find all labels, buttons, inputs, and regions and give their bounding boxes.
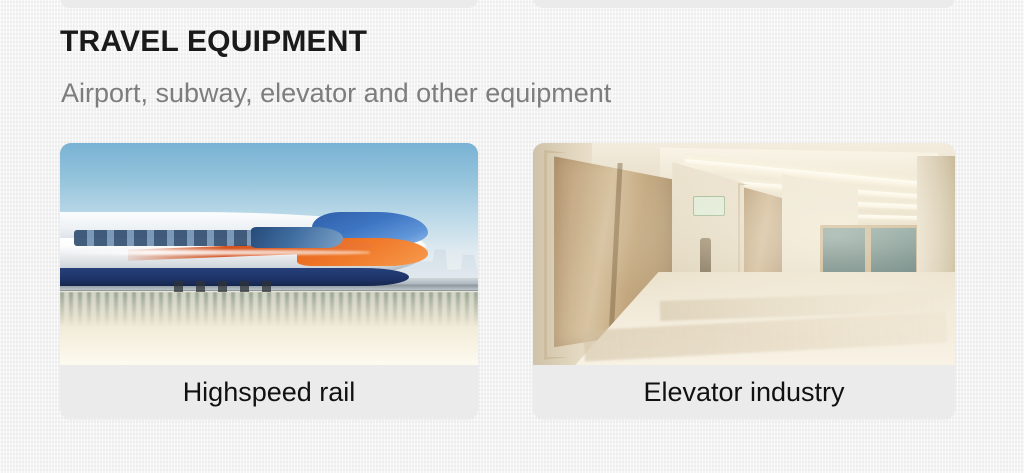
section-subtitle: Airport, subway, elevator and other equi… bbox=[61, 80, 611, 107]
category-card-grid: Highspeed rail bbox=[60, 143, 955, 419]
treeline-reflection bbox=[60, 292, 478, 328]
train-bogies bbox=[174, 281, 282, 292]
travel-equipment-section: TRAVEL EQUIPMENT Airport, subway, elevat… bbox=[0, 0, 1024, 473]
section-title: TRAVEL EQUIPMENT bbox=[60, 27, 367, 57]
exit-sign bbox=[693, 196, 725, 216]
category-card-elevator-industry[interactable]: Elevator industry bbox=[533, 143, 955, 419]
rail-scene bbox=[60, 143, 478, 365]
card-caption-highspeed-rail[interactable]: Highspeed rail bbox=[60, 365, 478, 419]
highspeed-train bbox=[60, 205, 428, 287]
card-caption-elevator-industry[interactable]: Elevator industry bbox=[533, 365, 955, 419]
train-passenger-windows bbox=[74, 230, 274, 246]
elevator-call-panel bbox=[700, 238, 711, 274]
elevator-lobby-scene bbox=[533, 143, 955, 365]
elevator-lobby-photo[interactable] bbox=[533, 143, 955, 365]
train-windshield bbox=[251, 227, 343, 248]
category-card-highspeed-rail[interactable]: Highspeed rail bbox=[60, 143, 478, 419]
train-highlight bbox=[60, 250, 370, 255]
highspeed-rail-photo[interactable] bbox=[60, 143, 478, 365]
